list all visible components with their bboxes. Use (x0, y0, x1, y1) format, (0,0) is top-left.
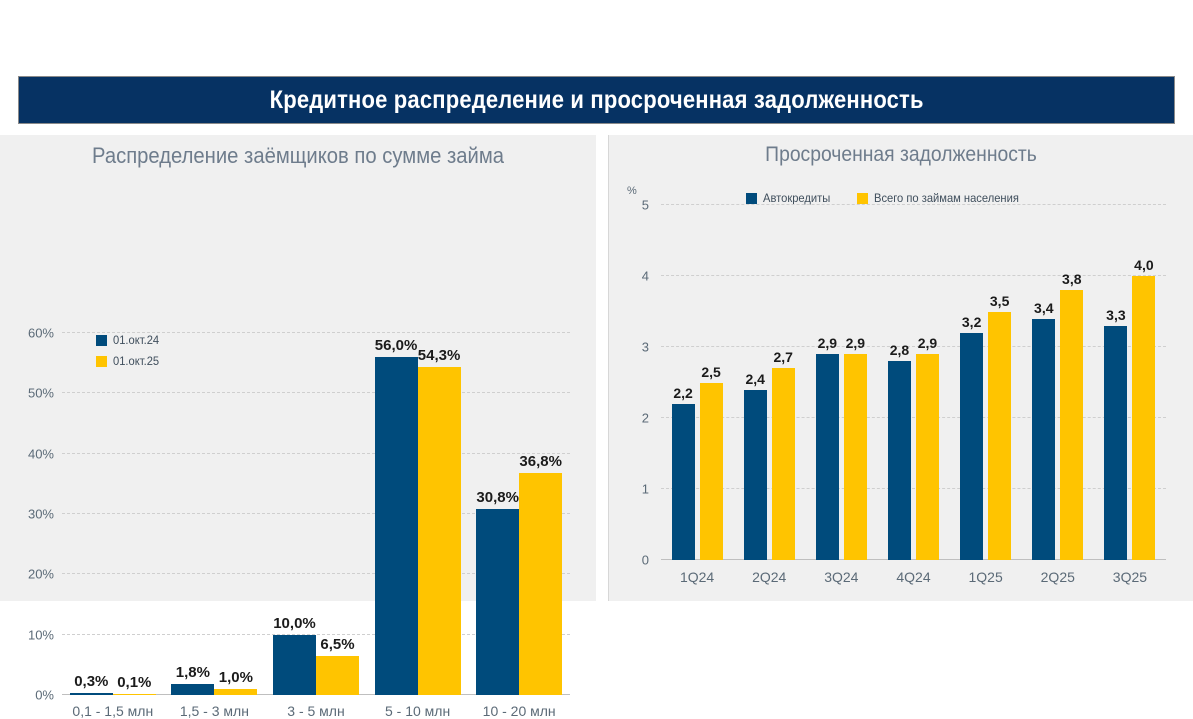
bar-value-label: 1,8% (176, 664, 210, 681)
bar[interactable]: 6,5% (316, 656, 359, 695)
bar-value-label: 2,8 (890, 342, 909, 358)
y-axis-tick: 40% (10, 446, 54, 461)
bar[interactable]: 3,2 (960, 333, 983, 560)
chart-legend-right: АвтокредитыВсего по займам населения (746, 191, 1030, 205)
bar[interactable]: 2,2 (672, 404, 695, 560)
bar-group: 2,82,9 (877, 205, 949, 560)
bar-value-label: 3,8 (1062, 271, 1081, 287)
x-axis-tick: 4Q24 (877, 569, 949, 585)
chart-title-left: Распределение заёмщиков по сумме займа (24, 143, 572, 169)
y-axis-tick: 2 (619, 411, 649, 426)
chart-panel-right: Просроченная задолженность % Автокредиты… (608, 135, 1193, 601)
bar-value-label: 10,0% (273, 615, 316, 632)
bar[interactable]: 2,8 (888, 361, 911, 560)
bar[interactable]: 4,0 (1132, 276, 1155, 560)
bar-group: 3,23,5 (950, 205, 1022, 560)
bar-pair: 56,0%54,3% (375, 333, 461, 695)
bar-value-label: 3,4 (1034, 300, 1053, 316)
x-axis-tick: 2Q24 (733, 569, 805, 585)
y-axis-tick: 30% (10, 507, 54, 522)
x-axis-tick: 2Q25 (1022, 569, 1094, 585)
bar-pair: 3,43,8 (1032, 205, 1083, 560)
bar-value-label: 56,0% (375, 337, 418, 354)
bar-value-label: 2,9 (818, 335, 837, 351)
bar-value-label: 2,5 (701, 364, 720, 380)
bar-pair: 3,34,0 (1104, 205, 1155, 560)
bar[interactable]: 2,4 (744, 390, 767, 560)
bar[interactable]: 2,5 (700, 383, 723, 561)
bar[interactable]: 54,3% (418, 367, 461, 695)
bar-value-label: 36,8% (519, 453, 562, 470)
bar-value-label: 3,3 (1106, 307, 1125, 323)
charts-container: Распределение заёмщиков по сумме займа 0… (0, 135, 1193, 601)
x-axis-labels-right: 1Q242Q243Q244Q241Q252Q253Q25 (661, 569, 1166, 585)
bar-pair: 3,23,5 (960, 205, 1011, 560)
bar-value-label: 3,5 (990, 293, 1009, 309)
bar[interactable]: 56,0% (375, 357, 418, 695)
bar-value-label: 3,2 (962, 314, 981, 330)
bar-pair: 2,22,5 (672, 205, 723, 560)
x-axis-tick: 5 - 10 млн (367, 703, 469, 719)
x-axis-tick: 1Q25 (950, 569, 1022, 585)
bar-value-label: 2,2 (673, 385, 692, 401)
bar-value-label: 0,3% (74, 673, 108, 690)
bar-pair: 1,8%1,0% (171, 333, 257, 695)
bar-group: 0,3%0,1% (62, 333, 164, 695)
legend-label: Автокредиты (763, 191, 830, 205)
bar-value-label: 30,8% (476, 489, 519, 506)
plot-area-left: 0%10%20%30%40%50%60%0,3%0,1%1,8%1,0%10,0… (62, 333, 570, 695)
x-axis-labels-left: 0,1 - 1,5 млн1,5 - 3 млн3 - 5 млн5 - 10 … (62, 703, 570, 719)
legend-item[interactable]: Всего по займам населения (857, 191, 1030, 205)
bar-pair: 2,82,9 (888, 205, 939, 560)
chart-title-right: Просроченная задолженность (632, 143, 1169, 167)
x-axis-tick: 10 - 20 млн (468, 703, 570, 719)
bar-value-label: 2,7 (773, 349, 792, 365)
bar-group: 10,0%6,5% (265, 333, 367, 695)
bar-group: 3,43,8 (1022, 205, 1094, 560)
bar[interactable]: 36,8% (519, 473, 562, 695)
bar-group: 56,0%54,3% (367, 333, 469, 695)
bar[interactable]: 0,1% (113, 694, 156, 695)
x-axis-tick: 3Q25 (1094, 569, 1166, 585)
bar-group: 2,42,7 (733, 205, 805, 560)
bar[interactable]: 0,3% (70, 693, 113, 695)
bar-group: 2,92,9 (805, 205, 877, 560)
bar[interactable]: 3,8 (1060, 290, 1083, 560)
x-axis-tick: 3Q24 (805, 569, 877, 585)
y-axis-tick: 5 (619, 198, 649, 213)
bar-group: 30,8%36,8% (468, 333, 570, 695)
x-axis-tick: 1,5 - 3 млн (164, 703, 266, 719)
bar[interactable]: 2,9 (844, 354, 867, 560)
bar-pair: 0,3%0,1% (70, 333, 156, 695)
y-axis-tick: 0% (10, 688, 54, 703)
bar-group: 2,22,5 (661, 205, 733, 560)
bar[interactable]: 1,0% (214, 689, 257, 695)
bar-value-label: 6,5% (320, 636, 354, 653)
x-axis-tick: 1Q24 (661, 569, 733, 585)
bar-value-label: 2,4 (745, 371, 764, 387)
x-axis-tick: 0,1 - 1,5 млн (62, 703, 164, 719)
chart-panel-left: Распределение заёмщиков по сумме займа 0… (0, 135, 596, 601)
bar[interactable]: 2,9 (816, 354, 839, 560)
bar[interactable]: 2,7 (772, 368, 795, 560)
bar[interactable]: 3,4 (1032, 319, 1055, 560)
bar-value-label: 2,9 (846, 335, 865, 351)
bar[interactable]: 1,8% (171, 684, 214, 695)
bar-pair: 2,92,9 (816, 205, 867, 560)
bar-pair: 10,0%6,5% (273, 333, 359, 695)
legend-item[interactable]: Автокредиты (746, 191, 835, 205)
bar-value-label: 1,0% (219, 669, 253, 686)
bar-groups: 2,22,52,42,72,92,92,82,93,23,53,43,83,34… (661, 205, 1166, 560)
bar[interactable]: 30,8% (476, 509, 519, 695)
x-axis-tick: 3 - 5 млн (265, 703, 367, 719)
bar-pair: 2,42,7 (744, 205, 795, 560)
bar[interactable]: 3,5 (988, 312, 1011, 561)
bar-group: 1,8%1,0% (164, 333, 266, 695)
bar-groups: 0,3%0,1%1,8%1,0%10,0%6,5%56,0%54,3%30,8%… (62, 333, 570, 695)
y-axis-tick: 3 (619, 340, 649, 355)
plot-area-right: 0123452,22,52,42,72,92,92,82,93,23,53,43… (661, 205, 1166, 560)
y-axis-tick: 4 (619, 269, 649, 284)
bar[interactable]: 2,9 (916, 354, 939, 560)
infographic-page: Кредитное распределение и просроченная з… (0, 0, 1193, 671)
y-axis-tick: 60% (10, 326, 54, 341)
page-title: Кредитное распределение и просроченная з… (269, 86, 923, 115)
bar-value-label: 54,3% (418, 347, 461, 364)
bar-value-label: 4,0 (1134, 257, 1153, 273)
legend-swatch-icon (746, 193, 757, 204)
y-axis-tick: 0 (619, 553, 649, 568)
y-axis-tick: 50% (10, 386, 54, 401)
bar[interactable]: 10,0% (273, 635, 316, 695)
bar-value-label: 0,1% (117, 674, 151, 691)
y-axis-unit-right: % (627, 185, 637, 197)
y-axis-tick: 20% (10, 567, 54, 582)
bar-pair: 30,8%36,8% (476, 333, 562, 695)
y-axis-tick: 1 (619, 482, 649, 497)
legend-label: Всего по займам населения (874, 191, 1019, 205)
bar[interactable]: 3,3 (1104, 326, 1127, 560)
legend-swatch-icon (857, 193, 868, 204)
bar-group: 3,34,0 (1094, 205, 1166, 560)
y-axis-tick: 10% (10, 627, 54, 642)
header-banner: Кредитное распределение и просроченная з… (18, 76, 1175, 124)
bar-value-label: 2,9 (918, 335, 937, 351)
